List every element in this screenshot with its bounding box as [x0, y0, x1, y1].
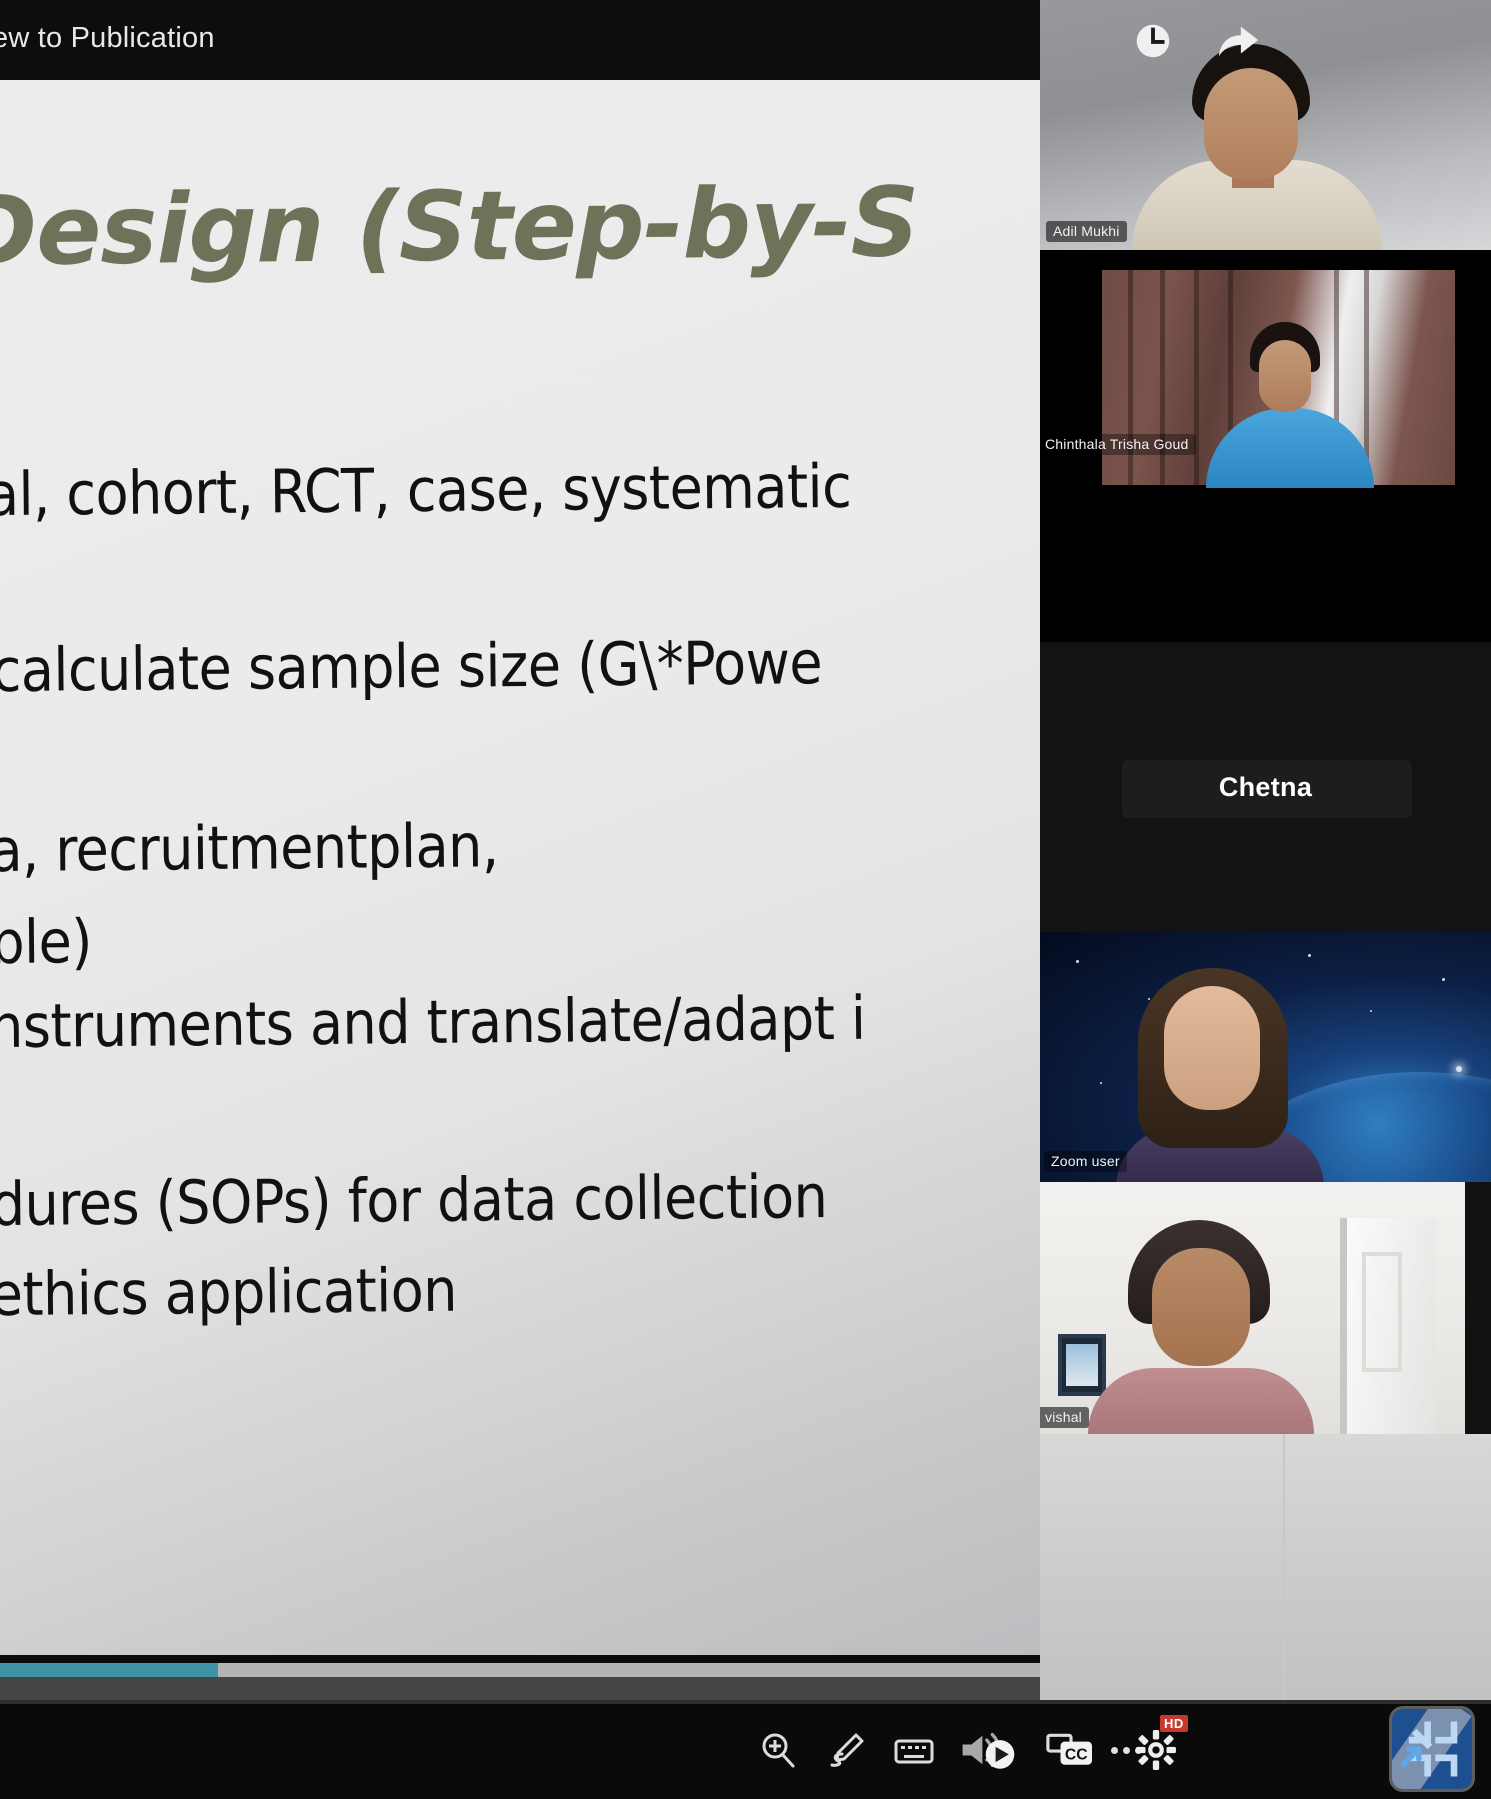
slide-bullet-5: nstruments and translate/adapt i	[0, 984, 866, 1062]
participant-name-badge: Adil Mukhi	[1046, 221, 1127, 242]
slide-bullet-6: dures (SOPs) for data collection	[0, 1162, 828, 1240]
toolbar-divider	[0, 1700, 1491, 1704]
avatar-face	[1152, 1248, 1250, 1366]
participant-strip-filler	[1040, 1434, 1491, 1700]
slide-bullet-3: a, recruitmentplan,	[0, 811, 499, 886]
share-arrow-icon[interactable]	[1215, 18, 1261, 64]
participant-name-badge: Chinthala Trisha Goud	[1040, 434, 1196, 455]
share-bottom-filler	[0, 1677, 1040, 1700]
exit-fullscreen-icon[interactable]	[1389, 1706, 1475, 1792]
share-progress-fill	[0, 1663, 218, 1677]
shared-screen-region: ew to Publication Design (Step-by-S al, …	[0, 0, 1040, 1700]
participant-tile-vishal[interactable]: vishal	[1040, 1182, 1491, 1434]
avatar-body	[1088, 1368, 1314, 1434]
participant-name-badge: vishal	[1040, 1407, 1089, 1428]
name-plate	[1122, 760, 1412, 818]
avatar-face	[1259, 340, 1311, 412]
top-overlay-controls	[1040, 0, 1491, 90]
wall-seam	[1283, 1434, 1285, 1700]
participant-video-frame	[1040, 1182, 1465, 1434]
speaker-play-icon[interactable]	[952, 1722, 1026, 1778]
slide-bullet-7: ethics application	[0, 1256, 457, 1330]
slide-bullet-4: ble)	[0, 907, 92, 978]
slide-bullet-2: calculate sample size (G\*Powe	[0, 628, 822, 706]
participant-name-badge: Zoom user	[1044, 1151, 1127, 1172]
hd-badge: HD	[1160, 1715, 1188, 1732]
participant-video-strip: Adil Mukhi Chinthala Trisha Goud Chetna	[1040, 0, 1491, 1700]
keyboard-icon[interactable]	[886, 1722, 942, 1778]
share-progress-track[interactable]	[0, 1663, 1040, 1677]
pen-annotate-icon[interactable]	[818, 1722, 874, 1778]
participant-tile-chinthala-trisha-goud[interactable]: Chinthala Trisha Goud	[1040, 250, 1491, 642]
shared-window-title: ew to Publication	[0, 22, 215, 55]
participant-tile-zoom-user[interactable]: Zoom user	[1040, 932, 1491, 1182]
zoom-meeting-window: ew to Publication Design (Step-by-S al, …	[0, 0, 1491, 1799]
slide-content: Design (Step-by-S al, cohort, RCT, case,…	[0, 80, 1040, 1655]
meeting-toolbar: CC HD	[0, 1700, 1491, 1799]
svg-text:CC: CC	[1065, 1746, 1088, 1763]
participant-tile-chetna[interactable]	[1040, 642, 1491, 932]
clock-icon[interactable]	[1130, 18, 1176, 64]
avatar-face	[1164, 986, 1260, 1110]
presentation-slide[interactable]: Design (Step-by-S al, cohort, RCT, case,…	[0, 80, 1040, 1655]
slide-bullet-1: al, cohort, RCT, case, systematic	[0, 452, 852, 530]
magnify-plus-icon[interactable]	[750, 1722, 806, 1778]
shared-window-titlebar: ew to Publication	[0, 0, 1040, 80]
background-door-panel	[1362, 1252, 1402, 1372]
background-photo-image	[1066, 1344, 1098, 1386]
slide-title: Design (Step-by-S	[0, 166, 919, 287]
closed-caption-icon[interactable]: CC	[1040, 1722, 1102, 1778]
